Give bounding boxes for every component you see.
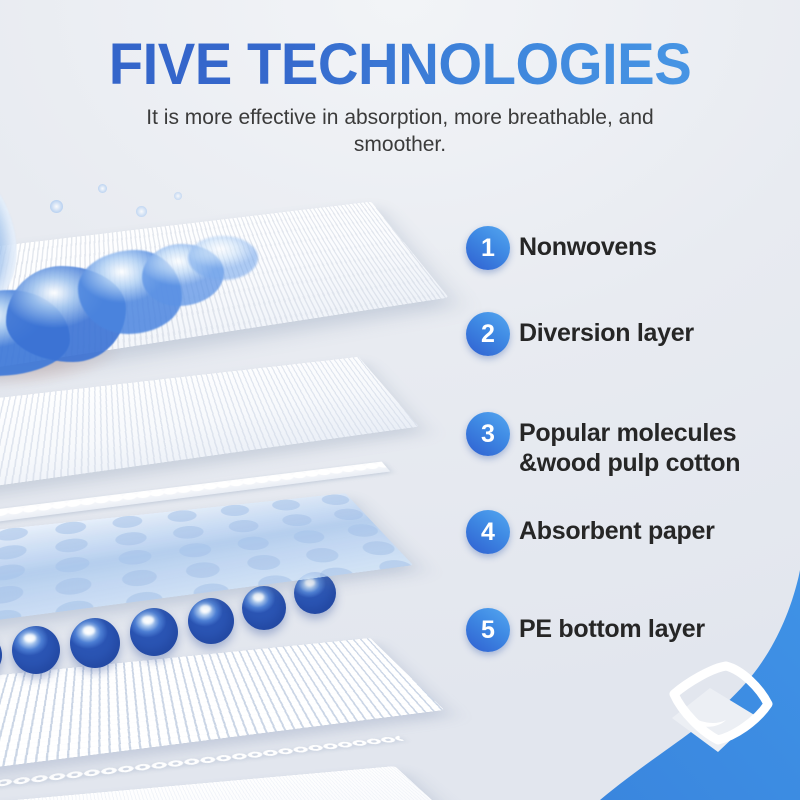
corner-wave-shape — [540, 570, 800, 800]
product-layers-illustration — [0, 150, 510, 800]
list-item-label: Popular molecules &wood pulp cotton — [519, 412, 740, 478]
gel-bead — [70, 618, 120, 668]
poster-canvas: FIVE TECHNOLOGIES It is more effective i… — [0, 0, 800, 800]
gel-bead — [12, 626, 60, 674]
list-item[interactable]: 4 Absorbent paper — [466, 510, 715, 554]
gel-bead-group — [0, 602, 370, 682]
layer-nonwoven-topsheet — [0, 202, 449, 379]
gel-bead — [0, 632, 2, 678]
badge-number: 1 — [466, 226, 510, 270]
gel-bead — [242, 586, 286, 630]
splash-droplet — [174, 192, 182, 200]
badge-number: 5 — [466, 608, 510, 652]
poster-header: FIVE TECHNOLOGIES It is more effective i… — [0, 0, 800, 158]
gel-bead — [188, 598, 234, 644]
list-item[interactable]: 3 Popular molecules &wood pulp cotton — [466, 412, 740, 478]
splash-droplet — [50, 200, 63, 213]
gel-bead — [130, 608, 178, 656]
corner-badge — [540, 570, 800, 800]
page-subtitle: It is more effective in absorption, more… — [120, 104, 680, 158]
list-item[interactable]: 2 Diversion layer — [466, 312, 694, 356]
list-item-label: Diversion layer — [519, 312, 694, 348]
list-item[interactable]: 1 Nonwovens — [466, 226, 657, 270]
badge-number: 2 — [466, 312, 510, 356]
page-title: FIVE TECHNOLOGIES — [12, 0, 788, 94]
splash-droplet — [98, 184, 107, 193]
list-item-label: Absorbent paper — [519, 510, 715, 546]
badge-number: 4 — [466, 510, 510, 554]
list-item-label: Nonwovens — [519, 226, 657, 262]
badge-number: 3 — [466, 412, 510, 456]
splash-droplet — [136, 206, 147, 217]
